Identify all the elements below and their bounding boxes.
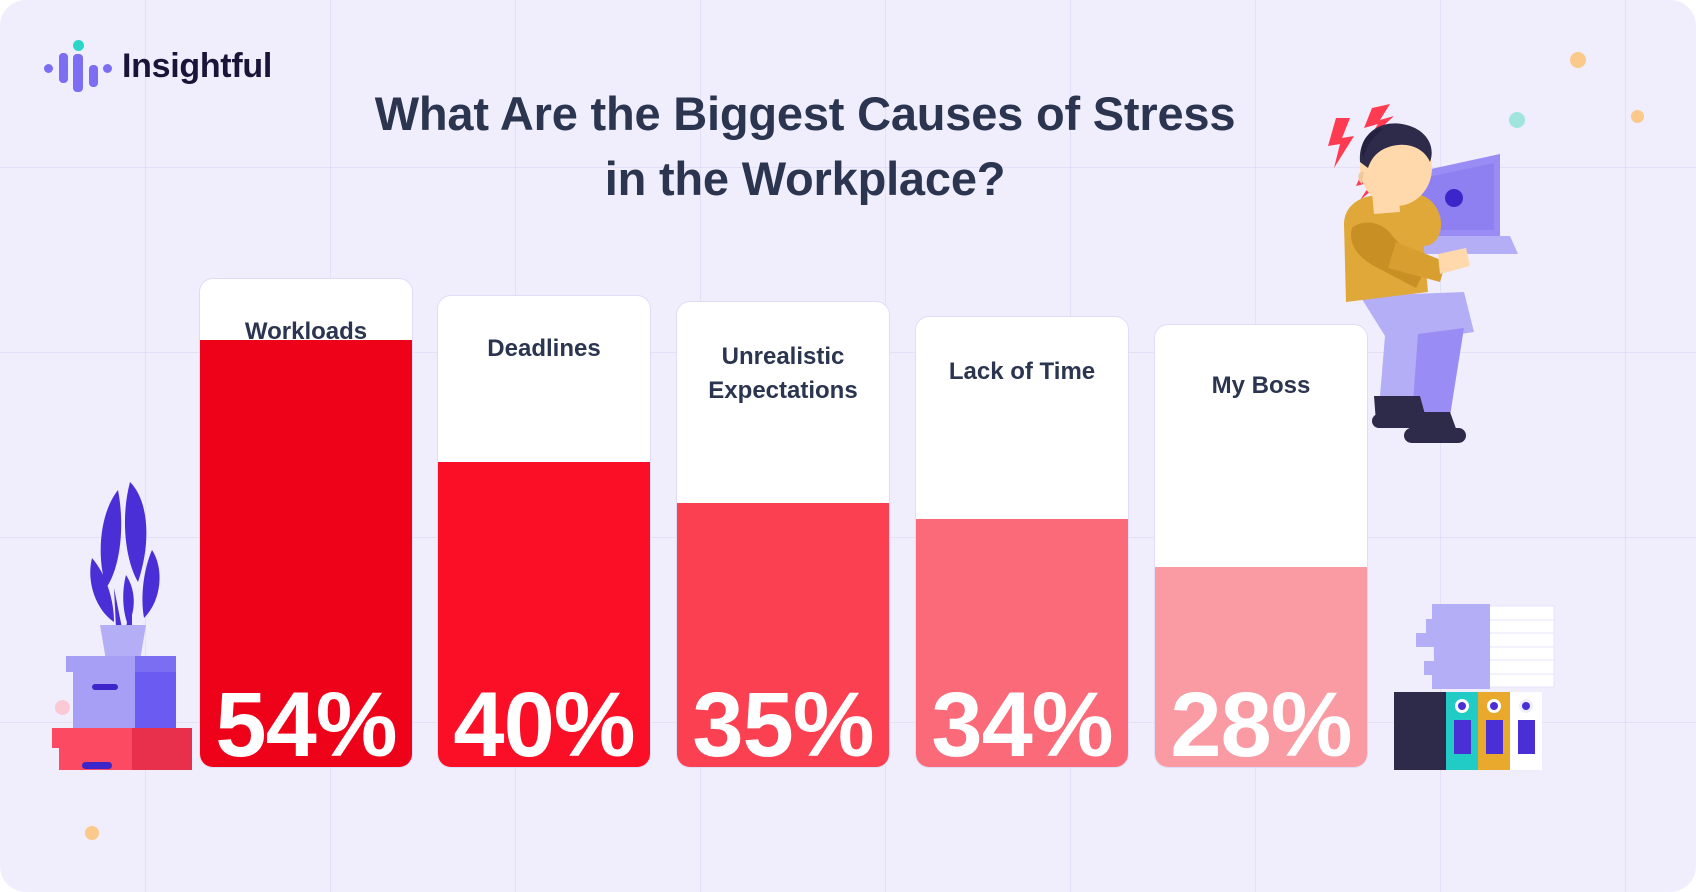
bar-value: 35% bbox=[677, 679, 889, 768]
bar-card[interactable]: My Boss28% bbox=[1154, 324, 1368, 768]
bar-label: Unrealistic Expectations bbox=[683, 340, 883, 408]
bar-value: 40% bbox=[438, 679, 650, 768]
infographic-canvas: Insightful What Are the Biggest Causes o… bbox=[0, 0, 1696, 892]
bar-label: Lack of Time bbox=[922, 355, 1122, 389]
bar-label: Workloads bbox=[206, 315, 406, 349]
bar-card[interactable]: Deadlines40% bbox=[437, 295, 651, 768]
bar-label: My Boss bbox=[1161, 369, 1361, 403]
bar-value: 28% bbox=[1155, 679, 1367, 768]
bar-chart: Workloads54%Deadlines40%Unrealistic Expe… bbox=[0, 0, 1696, 892]
bar-card[interactable]: Unrealistic Expectations35% bbox=[676, 301, 890, 768]
bar-card[interactable]: Workloads54% bbox=[199, 278, 413, 768]
bar-card[interactable]: Lack of Time34% bbox=[915, 316, 1129, 768]
bar-value: 34% bbox=[916, 679, 1128, 768]
bar-value: 54% bbox=[200, 679, 412, 768]
bar-label: Deadlines bbox=[444, 332, 644, 366]
